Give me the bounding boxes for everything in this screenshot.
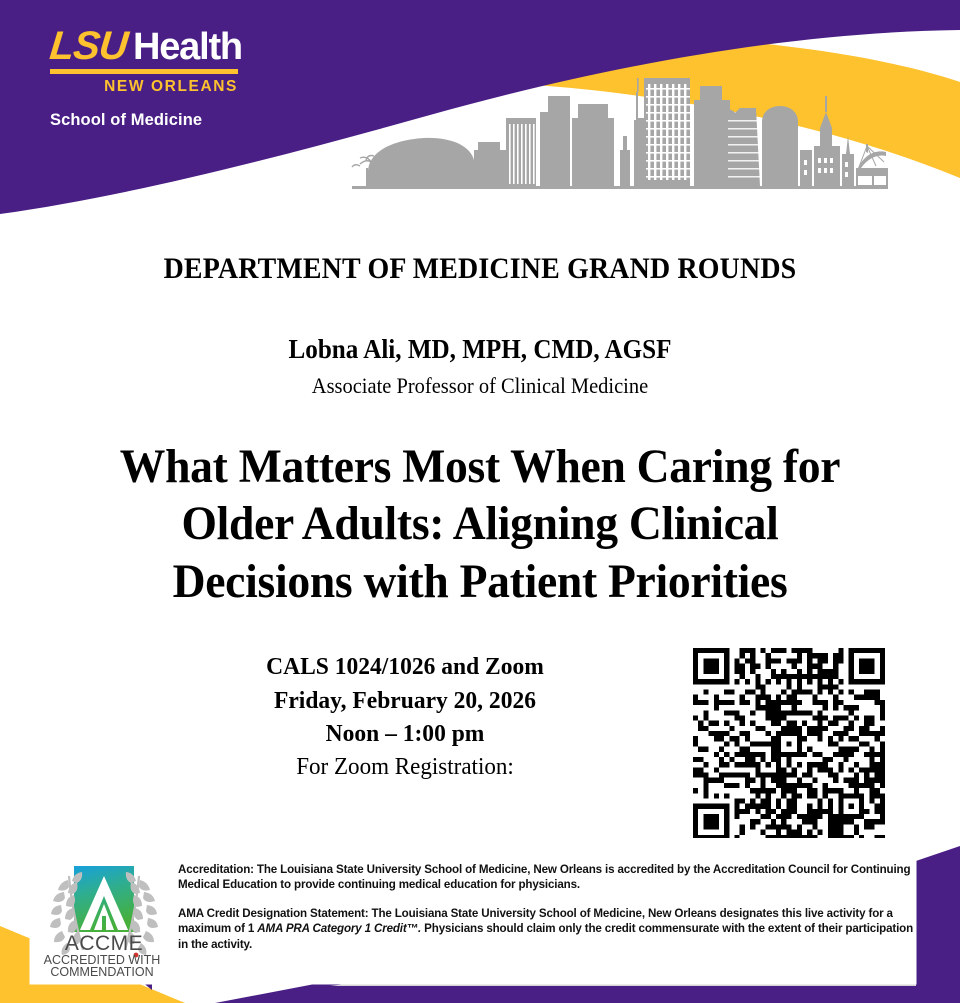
logo-school-text: School of Medicine [50, 111, 310, 130]
event-date: Friday, February 20, 2026 [160, 684, 650, 718]
talk-title-line: Decisions with Patient Priorities [27, 554, 933, 611]
event-location: CALS 1024/1026 and Zoom [160, 650, 650, 684]
logo-lsu-text: LSU [48, 26, 129, 66]
credit-emphasis: AMA PRA Category 1 Credit™. [257, 922, 421, 935]
zoom-registration-qr-code[interactable] [693, 648, 885, 840]
speaker-role: Associate Professor of Clinical Medicine [34, 373, 927, 399]
event-details: CALS 1024/1026 and Zoom Friday, February… [150, 650, 660, 784]
accreditation-text: Accreditation: The Louisiana State Unive… [178, 860, 916, 952]
qr-canvas[interactable] [693, 648, 885, 840]
lsu-health-logo: LSU Health NEW ORLEANS School of Medicin… [50, 26, 310, 130]
credit-designation-paragraph: AMA Credit Designation Statement: The Lo… [178, 906, 916, 952]
series-title: DEPARTMENT OF MEDICINE GRAND ROUNDS [34, 252, 927, 286]
logo-divider-rule [50, 69, 238, 74]
poster-header: LSU Health NEW ORLEANS School of Medicin… [0, 0, 960, 232]
logo-city-text: NEW ORLEANS [50, 78, 238, 96]
accme-seal-icon: ACCME ACCREDITED WITH COMMENDATION [38, 860, 170, 980]
event-time: Noon – 1:00 pm [160, 717, 650, 751]
speaker-name: Lobna Ali, MD, MPH, CMD, AGSF [34, 334, 927, 365]
talk-title: What Matters Most When Caring for Older … [0, 439, 960, 611]
accme-wordmark: ACCME [65, 932, 143, 955]
talk-title-line: What Matters Most When Caring for [27, 439, 933, 496]
accreditation-paragraph: Accreditation: The Louisiana State Unive… [178, 862, 916, 893]
registration-label: For Zoom Registration: [160, 751, 650, 784]
accreditation-card: ACCME ACCREDITED WITH COMMENDATION Accre… [30, 860, 916, 982]
grand-rounds-flyer: LSU Health NEW ORLEANS School of Medicin… [0, 0, 960, 1003]
poster-body: DEPARTMENT OF MEDICINE GRAND ROUNDS Lobn… [0, 232, 960, 611]
accme-logo: ACCME ACCREDITED WITH COMMENDATION [38, 860, 170, 980]
logo-health-text: Health [133, 28, 242, 66]
event-details-row: CALS 1024/1026 and Zoom Friday, February… [0, 640, 960, 855]
poster-footer: ACCME ACCREDITED WITH COMMENDATION Accre… [0, 838, 960, 1003]
talk-title-line: Older Adults: Aligning Clinical [27, 496, 933, 553]
accme-line2: COMMENDATION [50, 965, 153, 979]
